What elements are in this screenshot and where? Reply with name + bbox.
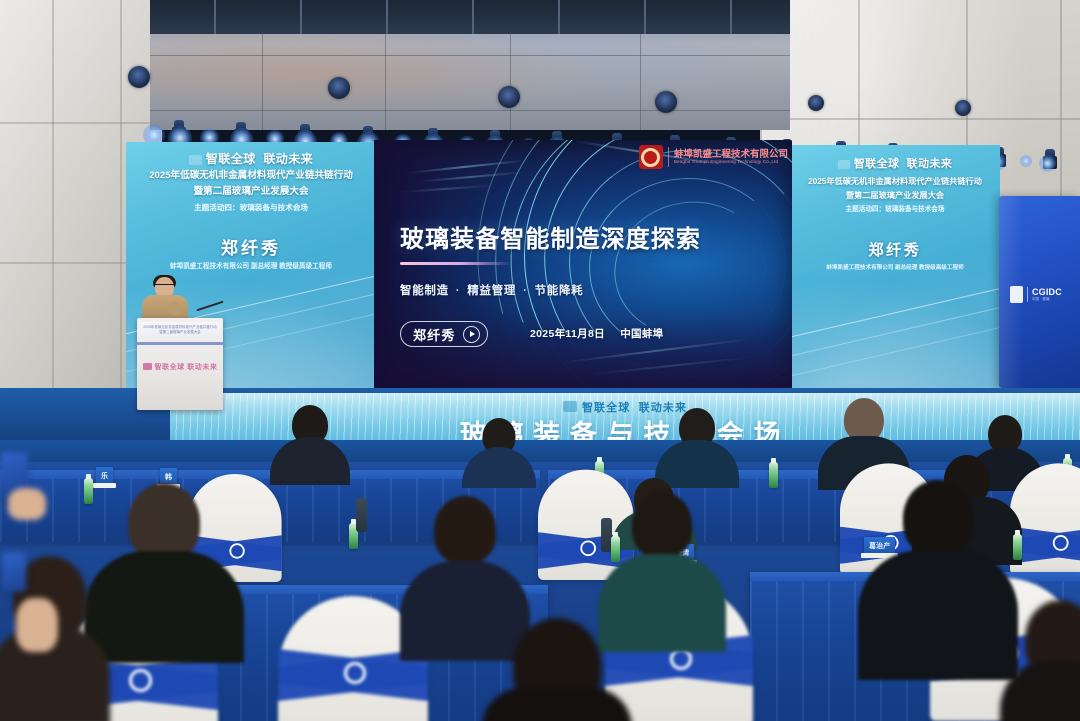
podium: 2025年低碳无机非金属材料现代产业链共链行动 暨第二届玻璃产业发展大会 智联全… [137,318,223,410]
smartphone[interactable] [2,552,26,592]
panel-title-line3: 主题活动四：玻璃装备与技术会场 [126,203,376,214]
smart-link-logo-icon [838,160,850,169]
sponsor-mark-icon [639,145,663,169]
logo-divider [1027,287,1028,302]
glasses-icon [155,284,174,289]
podium-banner-line2: 暨第二届玻璃产业发展大会 [159,330,201,335]
panel-title-line1: 2025年低碳无机非金属材料现代产业链共链行动 [792,176,998,187]
slide-accent-rule [400,262,512,265]
sponsor-logo: 蚌埠凯盛工程技术有限公司 Bengbu Triumph Engineering … [639,144,788,170]
cgidc-banner: CGIDC 中国 · 玻璃 [999,196,1080,388]
panel-slogan: 智联全球 联动未来 [126,150,376,167]
slide-meta: 2025年11月8日 中国蚌埠 [530,326,663,341]
panel-title-line1: 2025年低碳无机非金属材料现代产业链共链行动 [128,170,374,183]
ceiling-vent-icon [128,66,150,88]
smart-link-logo-icon [143,363,152,370]
podium-banner: 2025年低碳无机非金属材料现代产业链共链行动 暨第二届玻璃产业发展大会 [140,322,220,338]
play-triangle-icon [463,326,480,343]
smart-link-logo-icon [189,155,202,165]
panel-speaker-affiliation: 蚌埠凯盛工程技术有限公司 副总经理 教授级高级工程师 [126,260,376,270]
cgidc-logo: CGIDC 中国 · 玻璃 [1010,286,1062,303]
smart-link-logo-icon [563,401,577,412]
audience-hand [8,488,46,520]
panel-speaker-name: 郑纤秀 [126,234,376,259]
podium-slogan: 智联全球 联动未来 [137,362,223,372]
podium-divider [137,342,223,345]
keyword-2: 精益管理 [467,285,516,297]
slide-location: 中国蚌埠 [620,328,663,340]
keyword-1: 智能制造 [400,285,449,297]
keyword-sep: · [456,285,461,297]
panel-slogan-a: 智联全球 [206,152,256,166]
panel-swoosh-graphic [790,207,1000,388]
table-placard: 乐 [96,467,113,484]
speaker-name-pill: 郑纤秀 [400,321,488,347]
thermos-flask [356,498,367,532]
logo-divider [668,147,669,167]
speaker-name: 郑纤秀 [413,325,456,344]
panel-slogan-a: 智联全球 [854,158,900,170]
water-bottle [769,462,778,488]
backdrop-panel-right: 智联全球 联动未来 2025年低碳无机非金属材料现代产业链共链行动 暨第二届玻璃… [790,145,1000,388]
audience-person [655,408,739,488]
sponsor-name-en: Bengbu Triumph Engineering Technology Co… [674,160,788,165]
main-led-screen: 蚌埠凯盛工程技术有限公司 Bengbu Triumph Engineering … [374,140,792,388]
placard-text: 韩 [165,472,172,482]
keyword-sep: · [523,285,528,297]
panel-slogan: 智联全球 联动未来 [790,155,1000,171]
audience-hand [16,598,58,652]
podium-slogan-text: 智联全球 联动未来 [155,364,218,371]
panel-speaker-affiliation: 蚌埠凯盛工程技术有限公司 副总经理 教授级高级工程师 [790,263,1000,271]
slide-headline: 玻璃装备智能制造深度探索 [400,219,701,254]
slide-date: 2025年11月8日 [530,328,605,340]
placard-text: 乐 [101,471,108,481]
wall-seam [0,122,162,124]
audience-person [270,405,350,485]
cgidc-subtitle: 中国 · 玻璃 [1032,298,1062,302]
ceiling-window-strip [150,0,790,34]
panel-title-line2: 暨第二届玻璃产业发展大会 [128,186,374,199]
keyword-3: 节能降耗 [535,285,584,297]
audience-person [858,480,1018,680]
panel-slogan-b: 联动未来 [263,152,313,166]
panel-slogan-b: 联动未来 [907,158,953,170]
conference-stage-photo: 智联全球 联动未来 2025年低碳无机非金属材料现代产业链共链行动 暨第二届玻璃… [0,0,1080,721]
audience-person-foreground [1000,600,1080,721]
audience-person [462,418,536,488]
audience-person-foreground [482,618,632,721]
cgidc-mark-icon [1010,286,1023,303]
panel-title-line3: 主题活动四：玻璃装备与技术会场 [790,205,1000,214]
slide-keywords: 智能制造·精益管理·节能降耗 [400,282,583,298]
panel-speaker-name: 郑纤秀 [790,239,1000,260]
panel-title-line2: 暨第二届玻璃产业发展大会 [792,190,998,201]
